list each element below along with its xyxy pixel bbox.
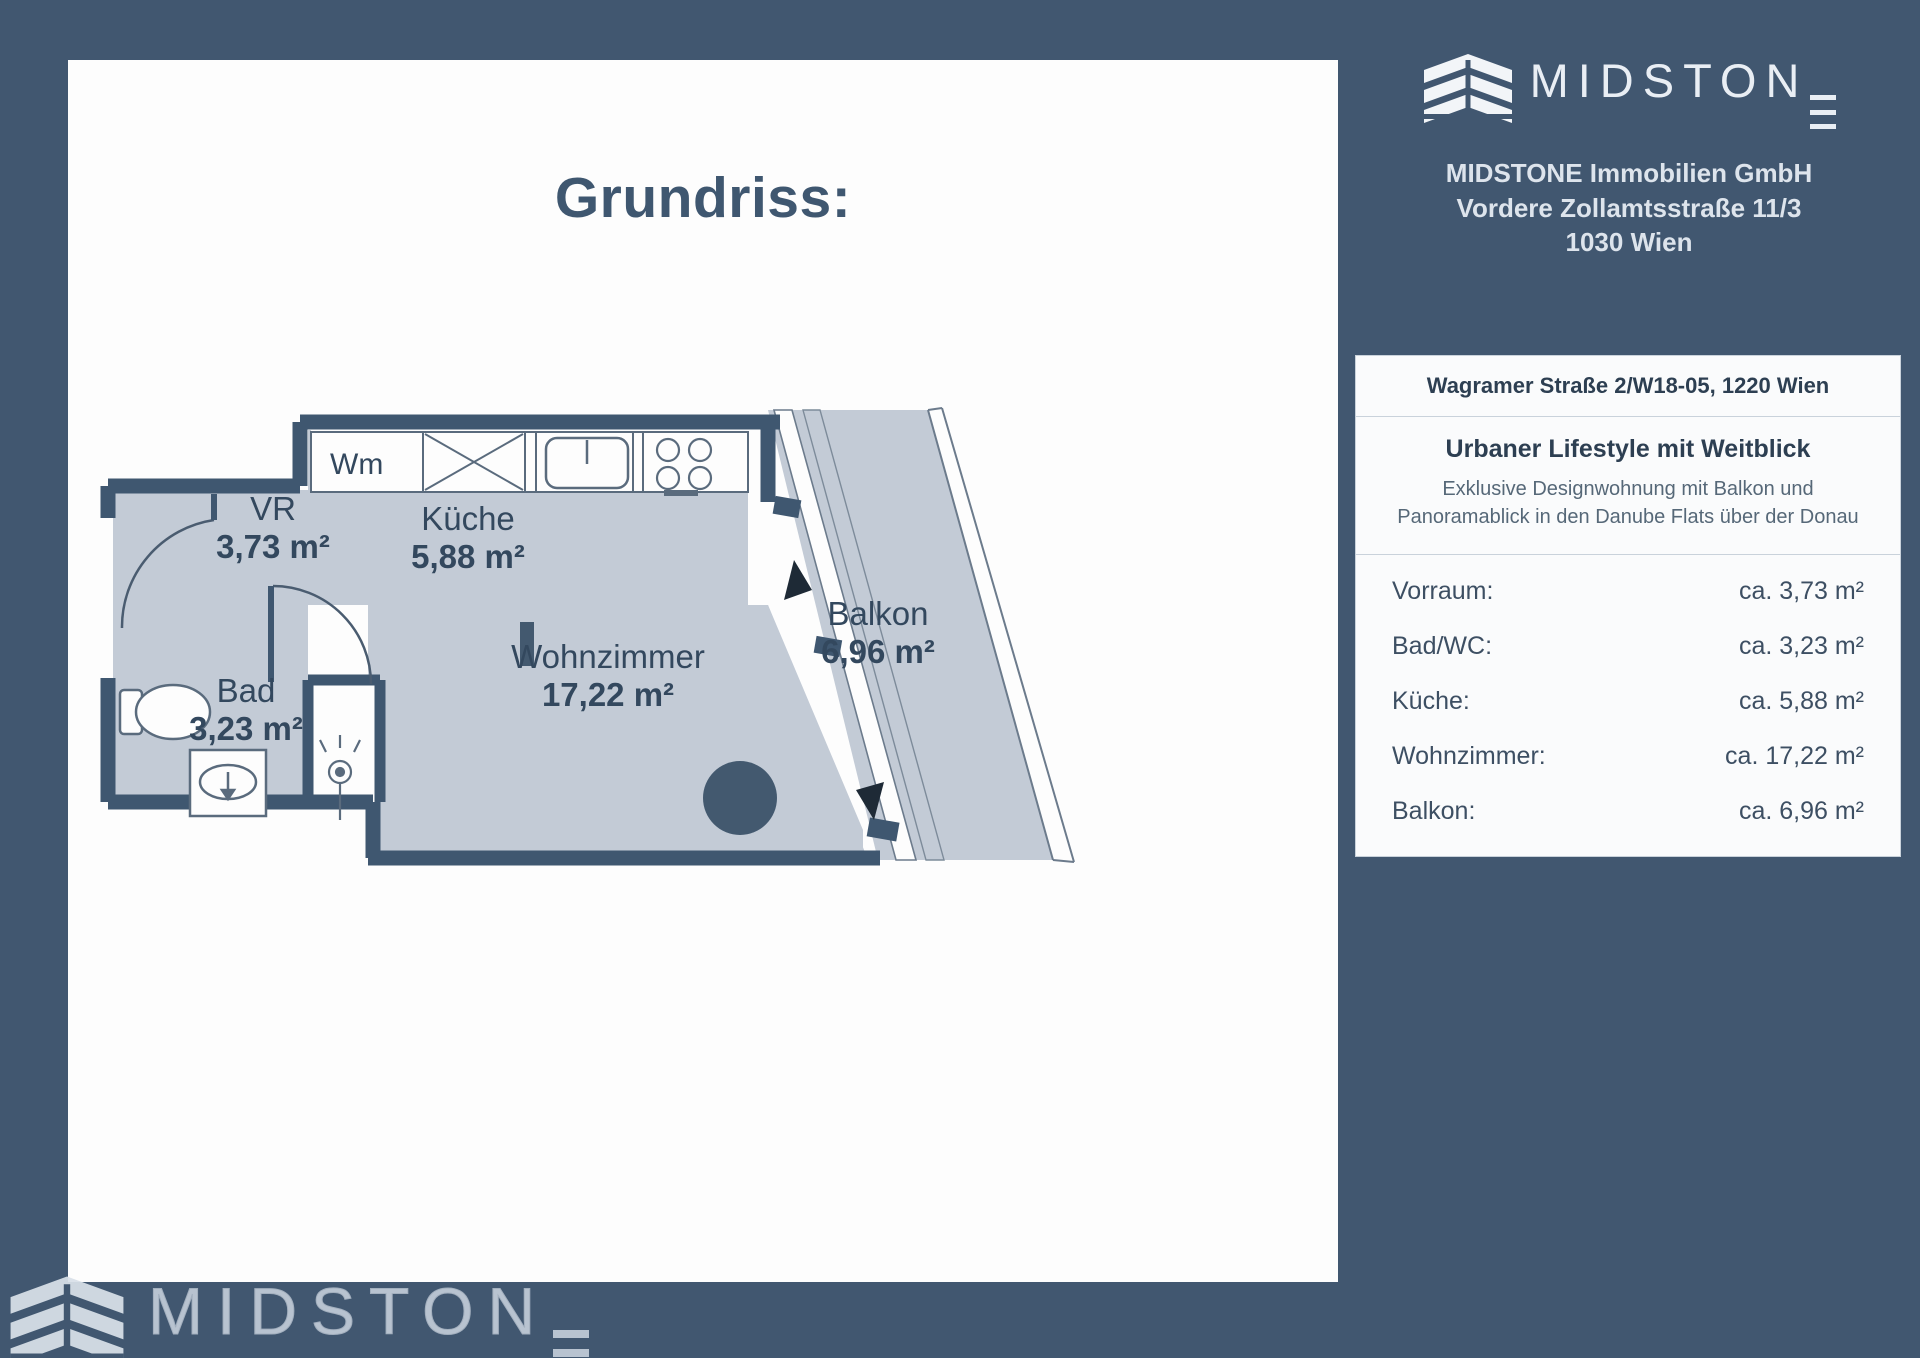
brand-wordmark: MIDSTON [1530, 53, 1837, 129]
brand-wordmark-e-icon [1810, 95, 1836, 129]
room-area-vr: 3,73 m² [216, 528, 330, 565]
area-table: Vorraum: ca. 3,73 m² Bad/WC: ca. 3,23 m²… [1356, 555, 1900, 856]
table-row: Wohnzimmer: ca. 17,22 m² [1392, 742, 1864, 771]
brand-wordmark-text: MIDSTON [1530, 54, 1809, 107]
midstone-building-logo-icon [1422, 52, 1514, 130]
listing-card: Wagramer Straße 2/W18-05, 1220 Wien Urba… [1355, 355, 1901, 857]
table-row: Küche: ca. 5,88 m² [1392, 687, 1864, 716]
area-value: ca. 5,88 m² [1666, 687, 1864, 716]
area-label: Bad/WC: [1392, 632, 1666, 661]
area-label: Küche: [1392, 687, 1666, 716]
area-label: Balkon: [1392, 797, 1666, 826]
room-label-vr: VR [250, 490, 296, 527]
room-label-kueche: Küche [421, 500, 515, 537]
room-area-wohnzimmer: 17,22 m² [542, 676, 674, 713]
area-value: ca. 6,96 m² [1666, 797, 1864, 826]
footer-wordmark: MIDSTON [148, 1273, 589, 1358]
floorplan-drawing: Wm [68, 390, 1338, 1010]
midstone-building-logo-icon [8, 1272, 126, 1358]
washbasin-icon [190, 750, 266, 816]
area-value: ca. 3,73 m² [1666, 577, 1864, 606]
area-label: Vorraum: [1392, 577, 1666, 606]
table-row: Balkon: ca. 6,96 m² [1392, 797, 1864, 826]
table-row: Bad/WC: ca. 3,23 m² [1392, 632, 1864, 661]
area-value: ca. 3,23 m² [1666, 632, 1864, 661]
room-area-bad: 3,23 m² [189, 710, 303, 747]
company-address: MIDSTONE Immobilien GmbH Vordere Zollamt… [1364, 156, 1894, 260]
area-label: Wohnzimmer: [1392, 742, 1666, 771]
fixture-label-washing-machine: Wm [330, 448, 383, 481]
footer-wordmark-text: MIDSTON [148, 1274, 549, 1348]
brand-block: MIDSTON MIDSTONE Immobilien GmbH Vordere… [1338, 0, 1920, 260]
column-icon [703, 761, 777, 835]
footer-wordmark-e-icon [553, 1330, 589, 1358]
floorplan-sheet: Grundriss: [68, 60, 1338, 1282]
listing-description: Exklusive Designwohnung mit Balkon und P… [1382, 475, 1874, 532]
area-value: ca. 17,22 m² [1666, 742, 1864, 771]
listing-description-block: Urbaner Lifestyle mit Weitblick Exklusiv… [1356, 417, 1900, 555]
company-street: Vordere Zollamtsstraße 11/3 [1364, 191, 1894, 226]
company-name: MIDSTONE Immobilien GmbH [1364, 156, 1894, 191]
table-row: Vorraum: ca. 3,73 m² [1392, 577, 1864, 606]
listing-address: Wagramer Straße 2/W18-05, 1220 Wien [1356, 356, 1900, 417]
room-label-balkon: Balkon [828, 595, 929, 632]
footer-watermark: MIDSTON [8, 1272, 589, 1358]
room-area-balkon: 6,96 m² [821, 633, 935, 670]
room-label-bad: Bad [217, 672, 276, 709]
company-city: 1030 Wien [1364, 225, 1894, 260]
room-label-wohnzimmer: Wohnzimmer [511, 638, 705, 675]
page-title: Grundriss: [68, 165, 1338, 231]
room-area-kueche: 5,88 m² [411, 538, 525, 575]
listing-headline: Urbaner Lifestyle mit Weitblick [1382, 435, 1874, 464]
